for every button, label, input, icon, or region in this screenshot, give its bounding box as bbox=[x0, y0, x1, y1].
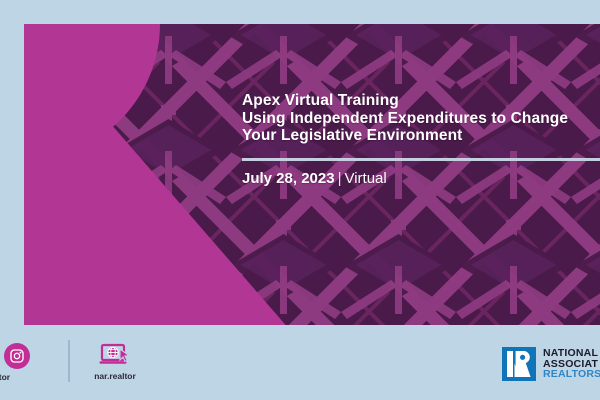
footer-divider bbox=[68, 340, 70, 382]
date-mode-separator: | bbox=[335, 170, 345, 187]
social-links-group bbox=[0, 343, 30, 369]
title-line-3: Your Legislative Environment bbox=[242, 127, 600, 145]
website-label: nar.realtor bbox=[88, 371, 142, 381]
event-date-mode: July 28, 2023|Virtual bbox=[242, 169, 387, 189]
nar-logo-mark-icon bbox=[502, 347, 536, 381]
event-mode: Virtual bbox=[344, 170, 386, 187]
nar-logo: NATIONAL ASSOCIAT REALTORS bbox=[502, 347, 600, 381]
event-date: July 28, 2023 bbox=[242, 170, 335, 187]
footer-bar: tRealtor nar.realtor bbox=[0, 335, 600, 400]
event-banner: Apex Virtual Training Using Independent … bbox=[24, 24, 600, 325]
instagram-icon[interactable] bbox=[4, 343, 30, 369]
nar-word-line-3: REALTORS bbox=[543, 369, 600, 380]
title-divider-rule bbox=[242, 158, 600, 161]
title-line-1: Apex Virtual Training bbox=[242, 92, 600, 110]
page-title: Apex Virtual Training Using Independent … bbox=[242, 92, 600, 145]
laptop-globe-cursor-icon bbox=[88, 343, 142, 367]
flyer-canvas: Apex Virtual Training Using Independent … bbox=[0, 0, 600, 400]
nar-logo-wordmark: NATIONAL ASSOCIAT REALTORS bbox=[543, 348, 600, 380]
title-line-2: Using Independent Expenditures to Change bbox=[242, 110, 600, 128]
social-handle-label: tRealtor bbox=[0, 372, 10, 382]
event-title-block: Apex Virtual Training Using Independent … bbox=[242, 92, 600, 145]
website-link-group[interactable]: nar.realtor bbox=[88, 343, 142, 381]
